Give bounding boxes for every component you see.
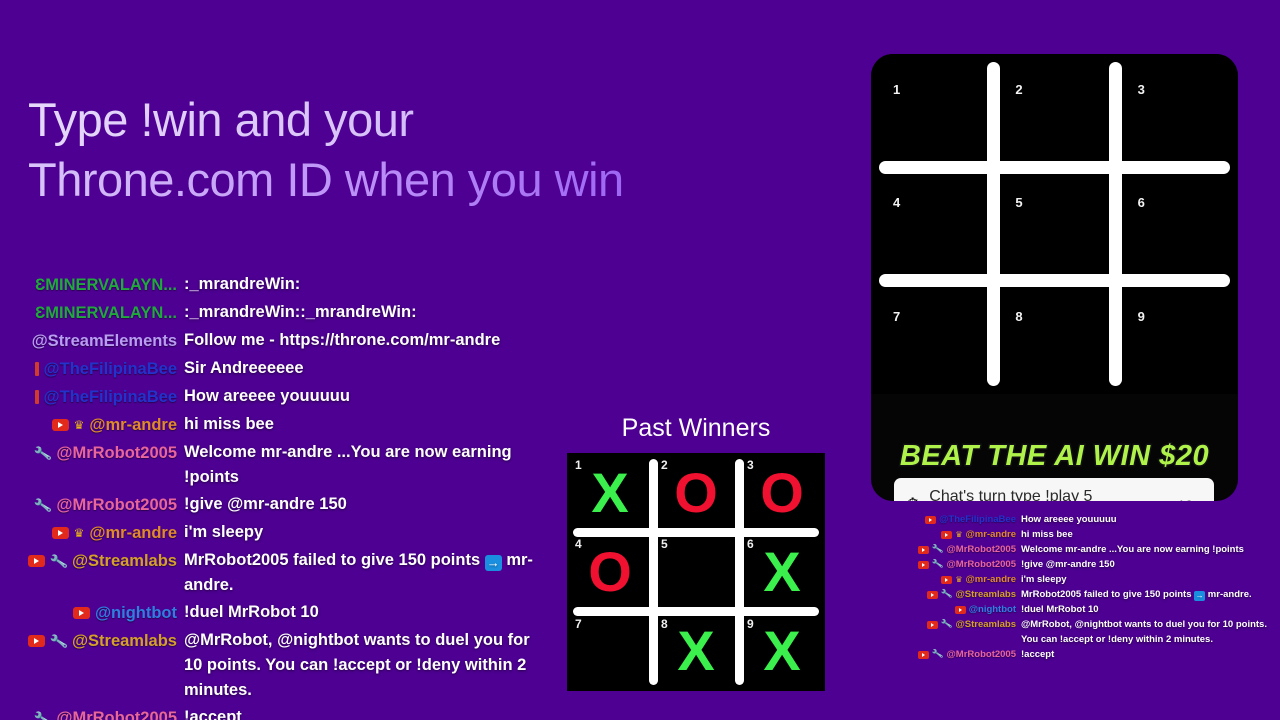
mark-x-icon: X bbox=[763, 623, 800, 679]
color-bar-badge-icon bbox=[35, 362, 39, 376]
board-cell-mark[interactable]: O bbox=[653, 453, 739, 532]
chat-message-meta: 🔧@Streamlabs bbox=[905, 587, 1021, 602]
chat-message: 🔧@Streamlabs@MrRobot, @nightbot wants to… bbox=[905, 617, 1280, 647]
chat-username[interactable]: @TheFilipinaBee bbox=[939, 514, 1016, 525]
status-card: ⏱ Chat's turn type !play 5 Type: "!play … bbox=[894, 478, 1214, 501]
chat-message-meta: 🔧@MrRobot2005 bbox=[0, 492, 184, 518]
wrench-badge-icon: 🔧 bbox=[932, 544, 945, 555]
youtube-badge-icon bbox=[28, 635, 45, 647]
youtube-badge-icon bbox=[73, 607, 90, 619]
chat-message-text: !duel MrRobot 10 bbox=[1021, 602, 1280, 617]
chat-message: ƐMINERVALAYN...:_mrandreWin::_mrandreWin… bbox=[0, 300, 556, 326]
wrench-badge-icon: 🔧 bbox=[932, 649, 945, 660]
mark-o-icon: O bbox=[760, 465, 804, 521]
chat-username[interactable]: @Streamlabs bbox=[72, 632, 177, 651]
crown-badge-icon: ♛ bbox=[955, 531, 962, 539]
chat-message-text: @MrRobot, @nightbot wants to duel you fo… bbox=[184, 628, 556, 703]
page-title: Type !win and your Throne.com ID when yo… bbox=[28, 90, 788, 210]
status-timer: 10s bbox=[1177, 497, 1200, 502]
chat-message: 🔧@StreamlabsMrRobot2005 failed to give 1… bbox=[0, 548, 556, 598]
mark-o-icon: O bbox=[674, 465, 718, 521]
board-cell-number: 5 bbox=[1015, 195, 1022, 210]
chat-message-text: !accept bbox=[1021, 647, 1280, 662]
chat-message-text: !duel MrRobot 10 bbox=[184, 600, 556, 625]
crown-badge-icon: ♛ bbox=[955, 576, 962, 584]
board-cell-number: 9 bbox=[1138, 309, 1145, 324]
past-winners-section: Past Winners 1X2O3O4O56X78X9X bbox=[567, 414, 825, 691]
status-title: Chat's turn type !play 5 bbox=[929, 488, 1177, 502]
mark-x-icon: X bbox=[677, 623, 714, 679]
youtube-badge-icon bbox=[941, 531, 952, 539]
chat-message-text: MrRobot2005 failed to give 150 points → … bbox=[184, 548, 556, 598]
chat-message-meta: 🔧@MrRobot2005 bbox=[0, 705, 184, 720]
wrench-badge-icon: 🔧 bbox=[48, 633, 68, 650]
chat-message-text: How areeee youuuuu bbox=[1021, 512, 1280, 527]
wrench-badge-icon: 🔧 bbox=[932, 559, 945, 570]
chat-username[interactable]: ƐMINERVALAYN... bbox=[35, 276, 177, 295]
chat-username[interactable]: ƐMINERVALAYN... bbox=[35, 304, 177, 323]
chat-message-text: hi miss bee bbox=[1021, 527, 1280, 542]
wrench-badge-icon: 🔧 bbox=[33, 497, 53, 514]
mark-o-icon: O bbox=[588, 544, 632, 600]
color-bar-badge-icon bbox=[35, 390, 39, 404]
chat-message-meta: @TheFilipinaBee bbox=[0, 384, 184, 410]
stopwatch-icon: ⏱ bbox=[906, 495, 919, 502]
arrow-emoji-icon: → bbox=[485, 555, 502, 571]
chat-message-meta: @TheFilipinaBee bbox=[0, 356, 184, 382]
wrench-badge-icon: 🔧 bbox=[48, 553, 68, 570]
chat-message-meta: 🔧@MrRobot2005 bbox=[905, 647, 1021, 662]
chat-message-meta: ♛@mr-andre bbox=[0, 412, 184, 438]
chat-message-text: @MrRobot, @nightbot wants to duel you fo… bbox=[1021, 617, 1280, 647]
chat-username[interactable]: @Streamlabs bbox=[956, 589, 1016, 600]
chat-message: ♛@mr-andrei'm sleepy bbox=[0, 520, 556, 546]
chat-message-meta: ƐMINERVALAYN... bbox=[0, 300, 184, 326]
chat-username[interactable]: @MrRobot2005 bbox=[56, 709, 177, 720]
chat-message-meta: ♛@mr-andre bbox=[905, 527, 1021, 542]
board-cell-number: 6 bbox=[1138, 195, 1145, 210]
board-cell-mark[interactable]: X bbox=[739, 612, 825, 691]
chat-message-text: Welcome mr-andre ...You are now earning … bbox=[184, 440, 556, 490]
wrench-badge-icon: 🔧 bbox=[941, 589, 954, 600]
board-cell-number: 7 bbox=[575, 617, 582, 631]
crown-badge-icon: ♛ bbox=[74, 527, 85, 539]
chat-message: @nightbot!duel MrRobot 10 bbox=[0, 600, 556, 626]
chat-message-text: hi miss bee bbox=[184, 412, 556, 437]
chat-username[interactable]: @Streamlabs bbox=[956, 619, 1016, 630]
chat-message: @nightbot!duel MrRobot 10 bbox=[905, 602, 1280, 617]
chat-message-meta: 🔧@MrRobot2005 bbox=[905, 557, 1021, 572]
chat-message: @TheFilipinaBeeHow areeee youuuuu bbox=[905, 512, 1280, 527]
board-cell-mark[interactable]: X bbox=[567, 453, 653, 532]
chat-username[interactable]: @Streamlabs bbox=[72, 552, 177, 571]
board-cell-mark[interactable]: X bbox=[739, 532, 825, 611]
chat-message: @StreamElementsFollow me - https://thron… bbox=[0, 328, 556, 354]
chat-username[interactable]: @MrRobot2005 bbox=[56, 496, 177, 515]
youtube-badge-icon bbox=[52, 419, 69, 431]
youtube-badge-icon bbox=[955, 606, 966, 614]
chat-message-text: !give @mr-andre 150 bbox=[1021, 557, 1280, 572]
chat-username[interactable]: @TheFilipinaBee bbox=[44, 388, 177, 407]
chat-username[interactable]: @nightbot bbox=[95, 604, 177, 623]
chat-message-text: :_mrandreWin: bbox=[184, 272, 556, 297]
chat-message: 🔧@MrRobot2005Welcome mr-andre ...You are… bbox=[905, 542, 1280, 557]
chat-message-text: Sir Andreeeeee bbox=[184, 356, 556, 381]
wrench-badge-icon: 🔧 bbox=[941, 619, 954, 630]
chat-message-text: Welcome mr-andre ...You are now earning … bbox=[1021, 542, 1280, 557]
board-cell-number: 7 bbox=[893, 309, 900, 324]
chat-message: ♛@mr-andrei'm sleepy bbox=[905, 572, 1280, 587]
board-cell-number: 2 bbox=[1015, 82, 1022, 97]
chat-message: 🔧@StreamlabsMrRobot2005 failed to give 1… bbox=[905, 587, 1280, 602]
chat-message-meta: ♛@mr-andre bbox=[905, 572, 1021, 587]
chat-message-meta: @StreamElements bbox=[0, 328, 184, 354]
chat-username[interactable]: @mr-andre bbox=[966, 529, 1016, 540]
chat-username[interactable]: @MrRobot2005 bbox=[947, 649, 1016, 660]
chat-message-meta: @nightbot bbox=[905, 602, 1021, 617]
board-grid-line-vertical bbox=[987, 62, 1000, 386]
board-cell-number: 1 bbox=[893, 82, 900, 97]
chat-username[interactable]: @mr-andre bbox=[966, 574, 1016, 585]
chat-message: 🔧@MrRobot2005Welcome mr-andre ...You are… bbox=[0, 440, 556, 490]
chat-message: 🔧@MrRobot2005!give @mr-andre 150 bbox=[0, 492, 556, 518]
chat-feed-main[interactable]: ƐMINERVALAYN...:_mrandreWin:ƐMINERVALAYN… bbox=[0, 272, 556, 720]
mark-x-icon: X bbox=[763, 544, 800, 600]
youtube-badge-icon bbox=[918, 651, 929, 659]
chat-message-meta: 🔧@Streamlabs bbox=[0, 628, 184, 654]
board-cell-number: 4 bbox=[893, 195, 900, 210]
chat-username[interactable]: @nightbot bbox=[969, 604, 1016, 615]
chat-message-text: !accept bbox=[184, 705, 556, 720]
chat-username[interactable]: @MrRobot2005 bbox=[56, 444, 177, 463]
game-panel: 123456789 BEAT THE AI WIN $20 ⏱ Chat's t… bbox=[871, 54, 1238, 501]
youtube-badge-icon bbox=[927, 591, 938, 599]
past-winners-board: 1X2O3O4O56X78X9X bbox=[567, 453, 825, 691]
chat-message-text: i'm sleepy bbox=[1021, 572, 1280, 587]
chat-message: ♛@mr-andrehi miss bee bbox=[0, 412, 556, 438]
board-cell-number: 8 bbox=[1015, 309, 1022, 324]
chat-message-meta: ♛@mr-andre bbox=[0, 520, 184, 546]
chat-message: 🔧@MrRobot2005!accept bbox=[905, 647, 1280, 662]
wrench-badge-icon: 🔧 bbox=[33, 710, 53, 720]
game-board[interactable]: 123456789 bbox=[871, 54, 1238, 394]
wrench-badge-icon: 🔧 bbox=[33, 445, 53, 462]
chat-username[interactable]: @mr-andre bbox=[89, 524, 177, 543]
chat-message: ♛@mr-andrehi miss bee bbox=[905, 527, 1280, 542]
chat-message: ƐMINERVALAYN...:_mrandreWin: bbox=[0, 272, 556, 298]
chat-feed-overlay[interactable]: @TheFilipinaBeeHow areeee youuuuu♛@mr-an… bbox=[905, 512, 1280, 720]
chat-username[interactable]: @MrRobot2005 bbox=[947, 544, 1016, 555]
board-cell-mark[interactable]: O bbox=[567, 532, 653, 611]
youtube-badge-icon bbox=[28, 555, 45, 567]
chat-message-meta: 🔧@MrRobot2005 bbox=[905, 542, 1021, 557]
chat-username[interactable]: @StreamElements bbox=[32, 332, 177, 351]
crown-badge-icon: ♛ bbox=[74, 419, 85, 431]
chat-message-meta: 🔧@Streamlabs bbox=[905, 617, 1021, 632]
chat-message-text: i'm sleepy bbox=[184, 520, 556, 545]
chat-message: @TheFilipinaBeeSir Andreeeeee bbox=[0, 356, 556, 382]
chat-message-meta: 🔧@Streamlabs bbox=[0, 548, 184, 574]
board-cell-mark[interactable]: X bbox=[653, 612, 739, 691]
arrow-emoji-icon: → bbox=[1194, 591, 1205, 601]
prize-banner: BEAT THE AI WIN $20 bbox=[871, 440, 1238, 473]
headline-line-1: Type !win and your bbox=[28, 90, 788, 150]
youtube-badge-icon bbox=[918, 561, 929, 569]
youtube-badge-icon bbox=[941, 576, 952, 584]
chat-username[interactable]: @TheFilipinaBee bbox=[44, 360, 177, 379]
chat-message-meta: @TheFilipinaBee bbox=[905, 512, 1021, 527]
youtube-badge-icon bbox=[927, 621, 938, 629]
chat-message-text: How areeee youuuuu bbox=[184, 384, 556, 409]
board-cell-number: 3 bbox=[1138, 82, 1145, 97]
mark-x-icon: X bbox=[591, 465, 628, 521]
chat-message: @TheFilipinaBeeHow areeee youuuuu bbox=[0, 384, 556, 410]
chat-username[interactable]: @mr-andre bbox=[89, 416, 177, 435]
chat-message-meta: @nightbot bbox=[0, 600, 184, 626]
board-grid-line-vertical bbox=[1109, 62, 1122, 386]
youtube-badge-icon bbox=[52, 527, 69, 539]
youtube-badge-icon bbox=[918, 546, 929, 554]
chat-message: 🔧@Streamlabs@MrRobot, @nightbot wants to… bbox=[0, 628, 556, 703]
chat-message: 🔧@MrRobot2005!give @mr-andre 150 bbox=[905, 557, 1280, 572]
chat-message-meta: 🔧@MrRobot2005 bbox=[0, 440, 184, 466]
board-cell-mark[interactable]: O bbox=[739, 453, 825, 532]
youtube-badge-icon bbox=[925, 516, 936, 524]
chat-message-text: !give @mr-andre 150 bbox=[184, 492, 556, 517]
board-grid-line-horizontal bbox=[879, 161, 1230, 174]
past-winners-title: Past Winners bbox=[567, 414, 825, 443]
chat-message-text: Follow me - https://throne.com/mr-andre bbox=[184, 328, 556, 353]
board-cell-number: 5 bbox=[661, 537, 668, 551]
board-grid-line-horizontal bbox=[879, 274, 1230, 287]
chat-username[interactable]: @MrRobot2005 bbox=[947, 559, 1016, 570]
chat-message: 🔧@MrRobot2005!accept bbox=[0, 705, 556, 720]
headline-line-2: Throne.com ID when you win bbox=[28, 150, 788, 210]
chat-message-text: MrRobot2005 failed to give 150 points → … bbox=[1021, 587, 1280, 602]
chat-message-meta: ƐMINERVALAYN... bbox=[0, 272, 184, 298]
chat-message-text: :_mrandreWin::_mrandreWin: bbox=[184, 300, 556, 325]
